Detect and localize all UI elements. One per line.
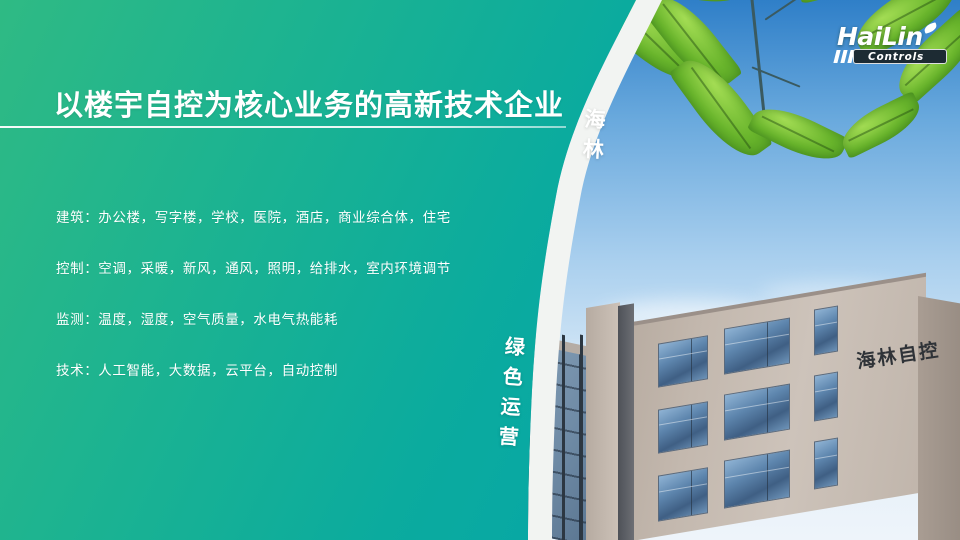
building-pier [586,302,620,540]
logo-slash-icon [840,50,847,63]
hailin-controls-logo: HaiLin Controls [831,22,951,64]
window [724,318,790,375]
logo-slash-icon [833,50,840,63]
window [724,450,790,509]
slide-canvas: 海林自控 以楼宇自控为核心业务的高新技术企业 建筑：办公楼，写字楼，学校，医院，… [0,0,960,540]
branch-stem [765,0,816,21]
window [658,335,708,387]
title-underline [0,126,566,128]
leaf-icon [923,22,938,34]
window [658,467,708,521]
logo-tagline-bar: Controls [853,49,947,64]
list-item: 建筑：办公楼，写字楼，学校，医院，酒店，商业综合体，住宅 [56,206,526,226]
list-item: 监测：温度，湿度，空气质量，水电气热能耗 [56,308,526,328]
logo-tagline: Controls [868,51,924,63]
building-right-wing [918,296,960,540]
bullet-list: 建筑：办公楼，写字楼，学校，医院，酒店，商业综合体，住宅 控制：空调，采暖，新风… [56,206,526,410]
leaf [835,91,927,159]
window [814,306,838,356]
list-item: 技术：人工智能，大数据，云平台，自动控制 [56,359,526,379]
office-building-photo [500,300,960,540]
window [658,401,708,453]
page-title: 以楼宇自控为核心业务的高新技术企业 [54,82,564,124]
logo-wordmark: HaiLin [837,22,923,51]
window [814,372,838,422]
list-item: 控制：空调，采暖，新风，通风，照明，给排水，室内环境调节 [56,257,526,277]
building-pier-shadow [618,303,634,540]
vertical-text-hailin: 海林 [576,107,609,168]
facade-fin [580,334,583,540]
window [724,384,790,441]
building-main-facade [596,277,926,540]
window [814,438,838,490]
facade-fin [562,335,565,540]
